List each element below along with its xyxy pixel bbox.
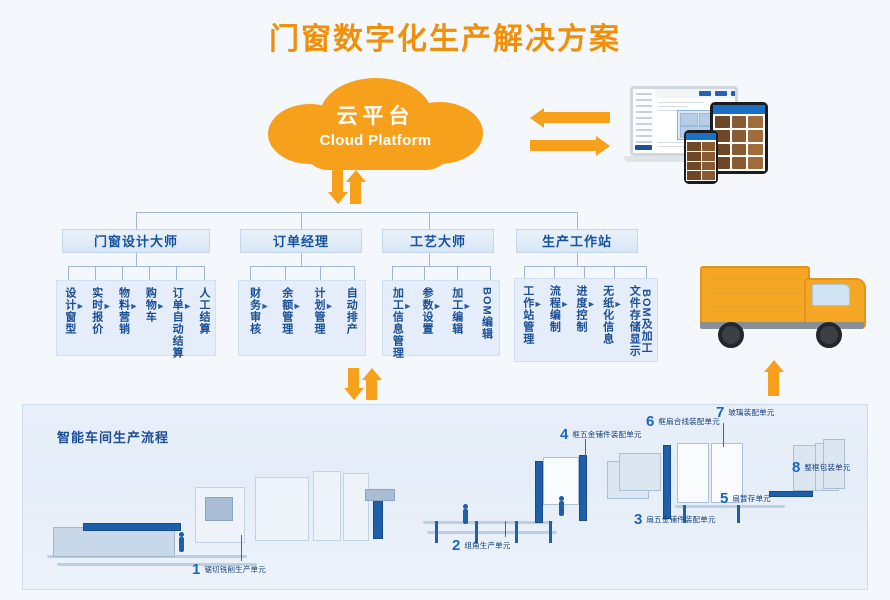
unit-number: 6 (646, 414, 654, 429)
device-mockup-group (622, 86, 788, 184)
conveyor-rail (427, 531, 557, 534)
module-item-label: 购物车 (143, 287, 155, 323)
unit-number: 3 (634, 512, 642, 527)
machine-frame (579, 455, 587, 521)
connector-line (429, 253, 430, 266)
pallet-stack (619, 453, 661, 491)
unit-name: 框扇合线装配单元 (658, 416, 720, 427)
connector-line (524, 266, 646, 267)
machine-unit (53, 527, 175, 557)
conveyor-rail (423, 521, 553, 524)
module-item[interactable]: BOM编辑 (480, 287, 492, 340)
module-item-label: 进度控制 (574, 285, 586, 333)
machine-frame (535, 461, 543, 523)
delivery-truck-illustration (700, 258, 872, 354)
machine-unit (313, 471, 341, 541)
truck-window (812, 284, 850, 306)
workshop-bidirectional-arrow (348, 368, 377, 400)
connector-line (68, 266, 204, 267)
module-item-label: 余额管理 (280, 287, 292, 335)
module-item[interactable]: 订单自动结算 ► (170, 287, 193, 359)
chevron-right-icon: ► (587, 285, 596, 309)
module-header-production-workstation[interactable]: 生产工作站 (516, 229, 638, 253)
arrow-down-icon (332, 170, 343, 204)
leader-line (505, 521, 506, 537)
module-header-process-master[interactable]: 工艺大师 (382, 229, 494, 253)
unit-name: 玻璃装配单元 (728, 407, 774, 418)
laptop-sidebar (633, 89, 656, 153)
chevron-right-icon: ► (403, 287, 412, 311)
truck-wheel (718, 322, 744, 348)
arrow-left-icon (530, 112, 610, 123)
worker-figure (463, 509, 468, 524)
module-item-label: 财务审核 (248, 287, 260, 335)
module-item[interactable]: 计划管理 ► (312, 287, 335, 335)
unit-label-4: 4 框五金铺件装配单元 (560, 427, 642, 442)
module-item-label: 工作站管理 (521, 285, 533, 345)
cloud-bidirectional-arrow (332, 170, 361, 204)
connector-line (136, 212, 577, 213)
module-item[interactable]: 参数设置 ► (420, 287, 443, 335)
connector-line (250, 266, 251, 280)
module-item[interactable]: 加工信息管理 ► (390, 287, 413, 359)
connector-line (301, 253, 302, 266)
module-item[interactable]: 购物车 ► (143, 287, 166, 323)
connector-line (392, 266, 490, 267)
module-item-label: 人工结算 (197, 287, 209, 335)
unit-label-7: 7 玻璃装配单元 (716, 405, 775, 420)
unit-number: 8 (792, 460, 800, 475)
module-item-label: 物料营销 (117, 287, 129, 335)
diagram-canvas: 门窗数字化生产解决方案 云平台 Cloud Platform (0, 0, 890, 600)
cloud-platform-node[interactable]: 云平台 Cloud Platform (268, 78, 483, 170)
connector-line (392, 266, 393, 280)
connector-line (136, 253, 137, 266)
phone-device (684, 130, 718, 184)
unit-label-6: 6 框扇合线装配单元 (646, 414, 720, 429)
module-item-label: BOM编辑 (480, 287, 492, 340)
chevron-right-icon: ► (76, 287, 85, 311)
rail-post (435, 521, 438, 543)
module-header-design-master[interactable]: 门窗设计大师 (62, 229, 210, 253)
module-item[interactable]: 加工编辑 ► (450, 287, 473, 335)
connector-line (354, 266, 355, 280)
cloud-device-sync-arrows (530, 112, 610, 158)
machine-unit (343, 473, 369, 541)
connector-line (646, 266, 647, 278)
arrow-right-icon (530, 140, 610, 151)
connector-line (457, 266, 458, 280)
truck-cargo-box (700, 266, 810, 328)
module-header-order-manager[interactable]: 订单经理 (240, 229, 362, 253)
arrow-up-icon (768, 360, 779, 396)
robot-arm (373, 497, 383, 539)
connector-line (584, 266, 585, 278)
unit-name: 扇五金铺件装配单元 (646, 514, 715, 525)
chevron-right-icon: ► (130, 287, 139, 311)
module-item[interactable]: 设计窗型 ► (63, 287, 86, 335)
module-item-label: 文件存储显示 (627, 285, 639, 357)
unit-name: 整框包装单元 (804, 462, 850, 473)
chevron-right-icon: ► (560, 285, 569, 309)
connector-line (285, 266, 286, 280)
chevron-right-icon: ► (463, 287, 472, 311)
module-item-label: 流程编制 (548, 285, 560, 333)
connector-line (176, 266, 177, 280)
unit-label-5: 5 扇暂存单元 (720, 491, 771, 506)
module-item-label: 设计窗型 (63, 287, 75, 335)
module-item[interactable]: 人工结算 (197, 287, 209, 335)
connector-line (320, 266, 321, 280)
conveyor-rail (769, 491, 813, 497)
module-item[interactable]: 工作站管理 ► (521, 285, 544, 345)
connector-line (149, 266, 150, 280)
cloud-label-en: Cloud Platform (320, 132, 432, 149)
unit-name: 框五金铺件装配单元 (572, 429, 641, 440)
window-frame (677, 443, 709, 503)
unit-label-2: 2 组角生产单元 (452, 538, 511, 553)
module-item-label: 实时报价 (90, 287, 102, 335)
machine-panel (205, 497, 233, 521)
unit-label-3: 3 扇五金铺件装配单元 (634, 512, 716, 527)
module-item[interactable]: BOM及加工 文件存储显示 (627, 285, 651, 357)
chevron-right-icon: ► (183, 287, 192, 311)
chevron-right-icon: ► (534, 285, 543, 309)
module-item[interactable]: 流程编制 ► (548, 285, 571, 333)
connector-line (250, 266, 354, 267)
module-item[interactable]: 财务审核 ► (248, 287, 271, 335)
module-item[interactable]: 余额管理 ► (280, 287, 303, 335)
worker-figure (559, 501, 564, 516)
connector-line (122, 266, 123, 280)
module-body-process-master: 加工信息管理 ► 参数设置 ► 加工编辑 ► BOM编辑 (382, 280, 500, 356)
arrow-up-icon (366, 368, 377, 400)
unit-name: 扇暂存单元 (732, 493, 771, 504)
unit-number: 4 (560, 427, 568, 442)
connector-line (554, 266, 555, 278)
chevron-right-icon: ► (614, 285, 623, 309)
rail-post (737, 505, 740, 523)
module-body-order-manager: 财务审核 ► 余额管理 ► 计划管理 ► 自动排产 (238, 280, 366, 356)
module-item[interactable]: 物料营销 ► (117, 287, 140, 335)
module-item-label: 参数设置 (420, 287, 432, 335)
chevron-right-icon: ► (293, 287, 302, 311)
workshop-title: 智能车间生产流程 (57, 427, 169, 446)
unit-number: 1 (192, 562, 200, 577)
shipping-arrow (768, 360, 779, 396)
unit-label-8: 8 整框包装单元 (792, 460, 851, 475)
worker-figure (179, 537, 184, 552)
leader-line (723, 423, 724, 447)
chevron-right-icon: ► (261, 287, 270, 311)
truck-wheel (816, 322, 842, 348)
unit-name: 锯切铣削生产单元 (204, 564, 266, 575)
module-item-label: 自动排产 (344, 287, 356, 335)
rail-post (515, 521, 518, 543)
arrow-down-icon (348, 368, 359, 400)
connector-line (490, 266, 491, 280)
module-item-label: 计划管理 (312, 287, 324, 335)
unit-name: 组角生产单元 (464, 540, 510, 551)
unit-number: 7 (716, 405, 724, 420)
cloud-label-cn: 云平台 (337, 105, 415, 129)
machine-unit (83, 523, 181, 531)
cloud-platform-text: 云平台 Cloud Platform (268, 78, 483, 170)
leader-line (241, 535, 242, 561)
connector-line (204, 266, 205, 280)
unit-label-1: 1 锯切铣削生产单元 (192, 562, 266, 577)
machine-unit (255, 477, 309, 541)
module-item-label: 订单自动结算 (170, 287, 182, 359)
tablet-device (710, 102, 768, 174)
unit-number: 2 (452, 538, 460, 553)
connector-line (524, 266, 525, 278)
module-item-label: BOM及加工 (639, 289, 651, 354)
robot-arm (365, 489, 395, 501)
chevron-right-icon: ► (433, 287, 442, 311)
rail-post (549, 521, 552, 543)
module-item-label: 加工信息管理 (390, 287, 402, 359)
module-body-design-master: 设计窗型 ► 实时报价 ► 物料营销 ► 购物车 ► 订单自动结算 ► 人工结算 (56, 280, 216, 356)
chevron-right-icon: ► (103, 287, 112, 311)
connector-line (68, 266, 69, 280)
module-body-production-workstation: 工作站管理 ► 流程编制 ► 进度控制 ► 无纸化信息 ► BOM及加工 文件存… (514, 278, 658, 362)
chevron-right-icon: ► (156, 287, 165, 311)
arrow-up-icon (350, 170, 361, 204)
connector-line (614, 266, 615, 278)
chevron-right-icon: ► (325, 287, 334, 311)
connector-line (577, 253, 578, 266)
module-item[interactable]: 无纸化信息 ► (601, 285, 624, 345)
module-item[interactable]: 自动排产 (344, 287, 356, 335)
module-item-label: 加工编辑 (450, 287, 462, 335)
unit-number: 5 (720, 491, 728, 506)
connector-line (95, 266, 96, 280)
module-item-label: 无纸化信息 (601, 285, 613, 345)
page-title: 门窗数字化生产解决方案 (0, 14, 890, 58)
module-item[interactable]: 进度控制 ► (574, 285, 597, 333)
module-item[interactable]: 实时报价 ► (90, 287, 113, 335)
connector-line (424, 266, 425, 280)
